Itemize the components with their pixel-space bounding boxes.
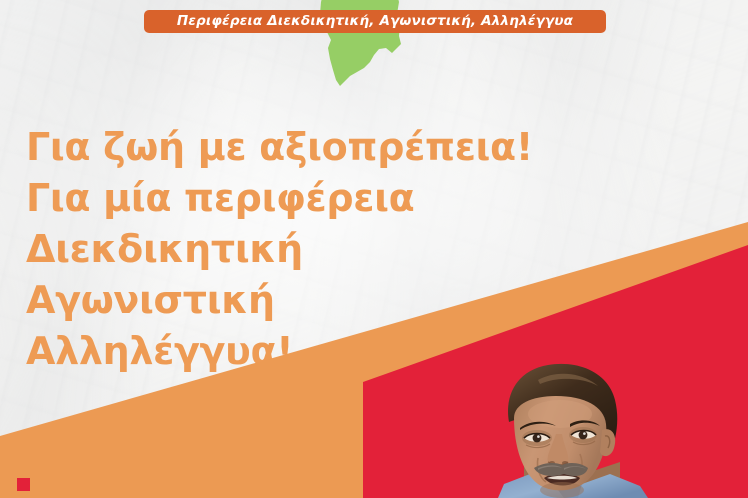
headline-line-2: Για μία περιφέρεια xyxy=(26,173,496,224)
headline-line-3: Διεκδικητική xyxy=(26,224,496,275)
ribbon-banner: Περιφέρεια Διεκδικητική, Αγωνιστική, Αλλ… xyxy=(144,10,606,33)
headline-line-5: Αλληλέγγυα! xyxy=(26,326,496,377)
candidate-portrait-photo xyxy=(452,362,682,498)
headline-line-4: Αγωνιστική xyxy=(26,275,496,326)
ribbon-label: Περιφέρεια Διεκδικητική, Αγωνιστική, Αλλ… xyxy=(177,15,573,29)
red-square-marker xyxy=(17,478,30,491)
headline-block: Για ζωή με αξιοπρέπεια! Για μία περιφέρε… xyxy=(26,122,496,377)
campaign-poster: Περιφέρεια Διεκδικητική, Αγωνιστική, Αλλ… xyxy=(0,0,748,498)
headline-line-1: Για ζωή με αξιοπρέπεια! xyxy=(26,122,496,173)
